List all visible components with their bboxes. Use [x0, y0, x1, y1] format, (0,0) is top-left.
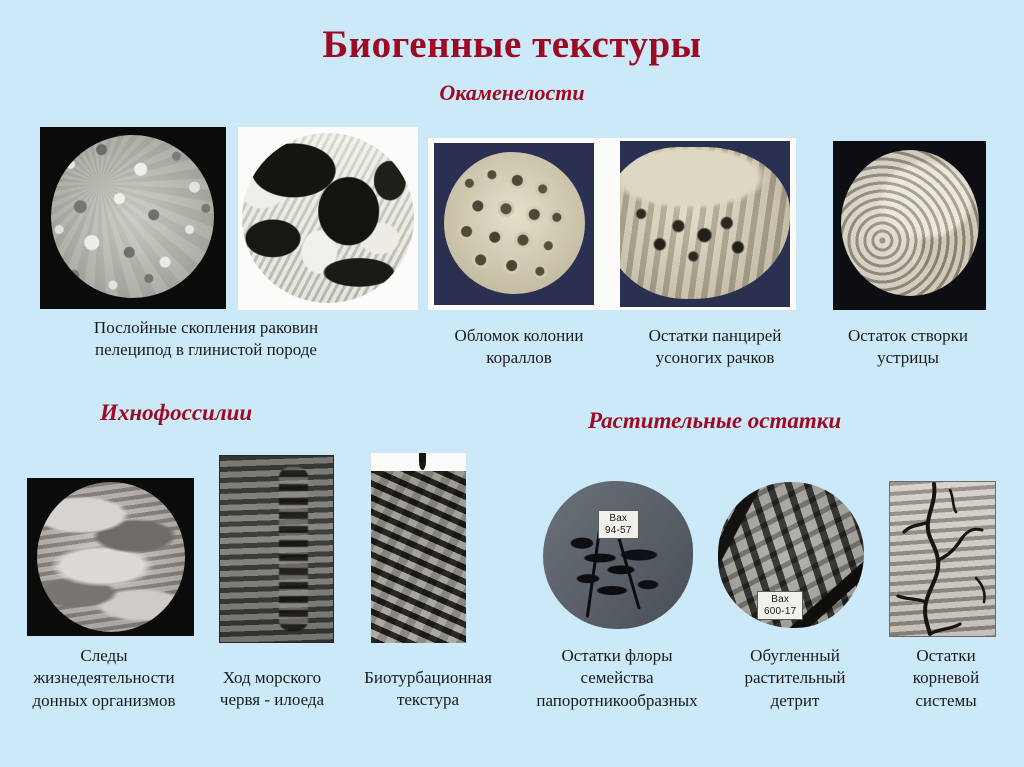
caption-root-system: Остатки корневой системы	[876, 645, 1016, 712]
caption-line: Следы	[3, 645, 205, 667]
core-top-nick	[419, 453, 426, 470]
core-sample-image	[242, 133, 414, 303]
figure-pelecypod-shells	[40, 127, 226, 309]
caption-line: Биотурбационная	[348, 667, 508, 689]
root-traces	[890, 482, 995, 636]
caption-line: червя - илоеда	[192, 689, 352, 711]
caption-line: семейства	[512, 667, 722, 689]
slide-canvas: Биогенные текстуры Окаменелости Послойны…	[0, 0, 1024, 767]
caption-line: Обломок колонии	[424, 325, 614, 347]
caption-coral-colony: Обломок колонии кораллов	[424, 325, 614, 370]
core-sample-image	[51, 135, 214, 298]
caption-line: Обугленный	[715, 645, 875, 667]
caption-line: пелеципод в глинистой породе	[46, 339, 366, 361]
figure-benthic-traces	[27, 478, 194, 636]
figure-barnacle-remains	[620, 141, 790, 307]
caption-line: детрит	[715, 690, 875, 712]
caption-line: Послойные скопления раковин	[46, 317, 366, 339]
fern-frond	[614, 527, 641, 610]
burrow-trace	[279, 467, 308, 631]
caption-line: Остаток створки	[820, 325, 996, 347]
caption-line: Остатки	[876, 645, 1016, 667]
specimen-image	[841, 150, 979, 296]
caption-carbonized-detritus: Обугленный растительный детрит	[715, 645, 875, 712]
caption-line: папоротникообразных	[512, 690, 722, 712]
figure-shell-accumulation-bw	[238, 127, 418, 310]
section-heading-fossils: Окаменелости	[0, 80, 1024, 106]
figure-coral-colony	[434, 143, 594, 305]
figure-oyster-valve	[833, 141, 986, 310]
caption-benthic-traces: Следы жизнедеятельности донных организмо…	[3, 645, 205, 712]
page-title: Биогенные текстуры	[0, 22, 1024, 67]
section-heading-plant-remains: Растительные остатки	[588, 408, 841, 434]
caption-barnacle-remains: Остатки панцирей усоногих рачков	[620, 325, 810, 370]
caption-line: усоногих рачков	[620, 347, 810, 369]
specimen-label-tag: Вах 94-57	[598, 510, 639, 539]
figure-fern-flora: Вах 94-57	[540, 478, 696, 633]
specimen-image	[444, 152, 585, 294]
caption-line: Остатки панцирей	[620, 325, 810, 347]
core-sample-image	[37, 482, 185, 632]
caption-line: жизнедеятельности	[3, 667, 205, 689]
caption-line: кораллов	[424, 347, 614, 369]
caption-line: Ход морского	[192, 667, 352, 689]
figure-root-system	[889, 481, 996, 637]
caption-oyster-valve: Остаток створки устрицы	[820, 325, 996, 370]
caption-line: текстура	[348, 689, 508, 711]
core-sample-image	[371, 471, 466, 643]
caption-pelecypod-shells: Послойные скопления раковин пелеципод в …	[46, 317, 366, 362]
caption-line: устрицы	[820, 347, 996, 369]
caption-bioturbation: Биотурбационная текстура	[348, 667, 508, 712]
caption-line: Остатки флоры	[512, 645, 722, 667]
caption-fern-flora: Остатки флоры семейства папоротникообраз…	[512, 645, 722, 712]
core-sample-image	[543, 481, 693, 629]
figure-bioturbation	[371, 453, 466, 643]
section-heading-ichnofossils: Ихнофоссилии	[100, 400, 252, 426]
caption-worm-burrow: Ход морского червя - илоеда	[192, 667, 352, 712]
caption-line: донных организмов	[3, 690, 205, 712]
caption-line: корневой	[876, 667, 1016, 689]
figure-carbonized-detritus: Вах 600-17	[715, 478, 867, 633]
caption-line: системы	[876, 690, 1016, 712]
specimen-image	[620, 147, 790, 299]
specimen-label-tag: Вах 600-17	[757, 591, 803, 620]
figure-worm-burrow	[219, 455, 334, 643]
caption-line: растительный	[715, 667, 875, 689]
